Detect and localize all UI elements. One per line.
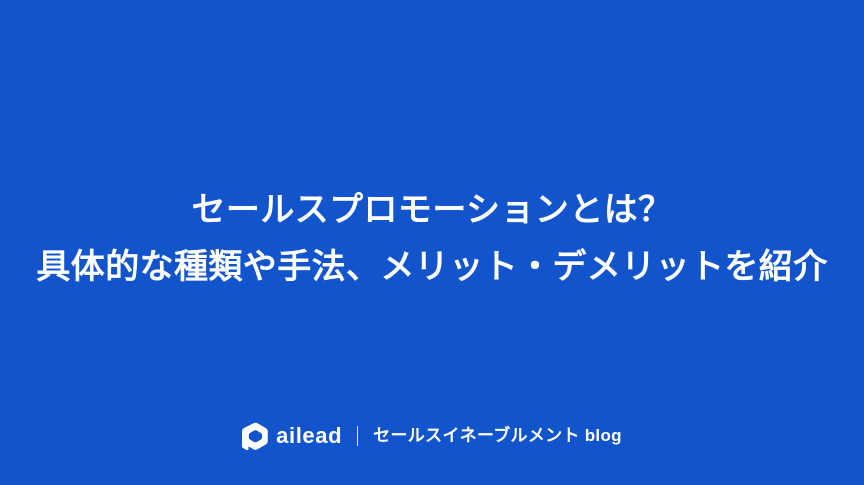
blog-thumbnail-banner: セールスプロモーションとは？ 具体的な種類や手法、メリット・デメリットを紹介 a… [0,0,864,485]
page-title-line-1: セールスプロモーションとは？ [0,182,864,239]
page-title-line-2: 具体的な種類や手法、メリット・デメリットを紹介 [0,239,864,296]
page-title: セールスプロモーションとは？ 具体的な種類や手法、メリット・デメリットを紹介 [0,182,864,296]
brand-footer: ailead セールスイネーブルメント blog [0,418,864,454]
brand-divider [357,426,358,446]
ailead-hexagon-logo-icon [242,422,269,451]
brand-tagline: セールスイネーブルメント blog [373,426,622,446]
ailead-logo-lockup: ailead [242,422,342,451]
ailead-wordmark: ailead [276,425,342,447]
